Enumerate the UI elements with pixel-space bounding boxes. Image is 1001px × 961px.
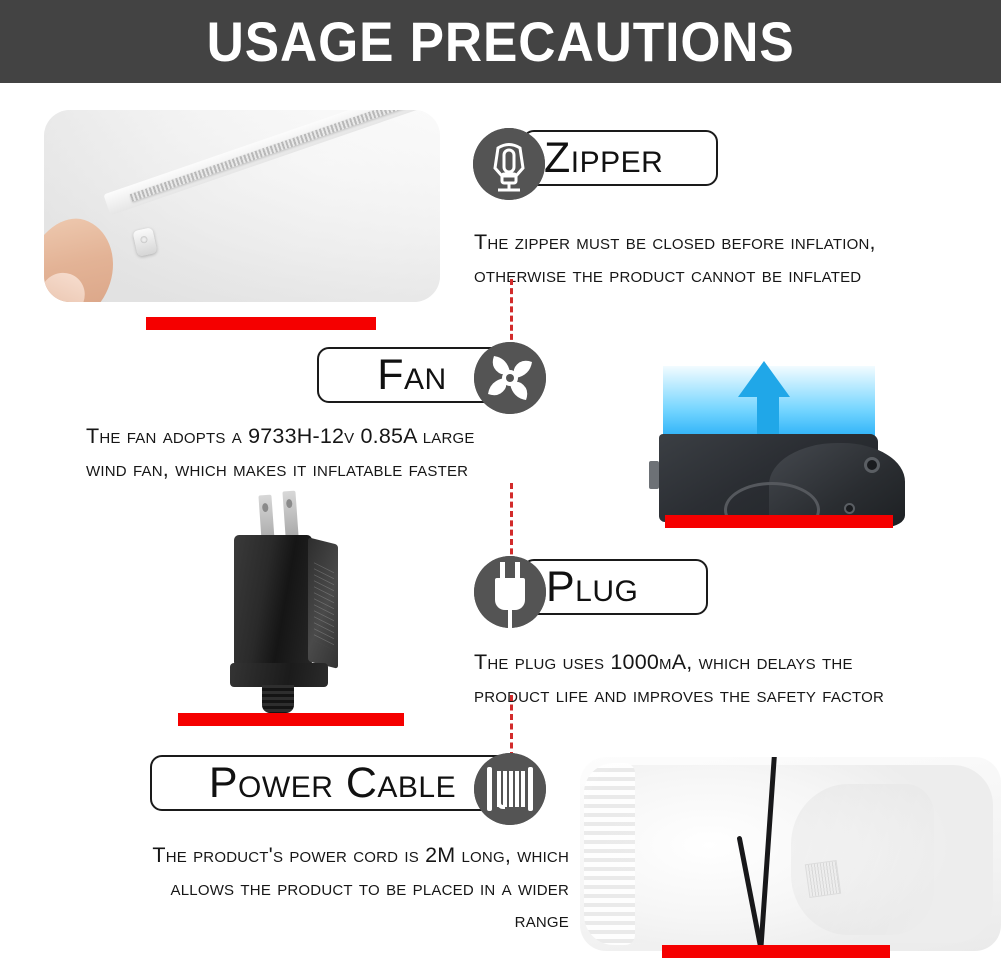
cable-photo-velcro-patch [805, 860, 841, 898]
power-cable-label-text: Power Cable [209, 762, 456, 805]
plug-icon [474, 556, 546, 628]
plug-photo [178, 495, 408, 695]
plug-photo-output-barrel [262, 685, 294, 713]
plug-label-pill: Plug [522, 559, 708, 615]
plug-photo-side-face [308, 537, 338, 668]
zipper-photo-thumbnail [44, 263, 94, 302]
zipper-red-underline [146, 317, 376, 330]
plug-description-line-2: product life and improves the safety fac… [474, 679, 1001, 712]
power-cable-description: The product's power cord is 2M long, whi… [24, 839, 569, 937]
plug-description: The plug uses 1000mA, which delays the p… [474, 646, 1001, 711]
power-cable-description-line-2: allows the product to be placed in a wid… [24, 872, 569, 905]
plug-photo-spec-label [314, 562, 334, 650]
plug-label-text: Plug [546, 566, 638, 609]
plug-red-underline [178, 713, 404, 726]
infographic-canvas: Zipper The zipper must be closed before … [0, 83, 1001, 961]
zipper-description: The zipper must be closed before inflati… [474, 226, 998, 291]
fan-blades-icon [474, 342, 546, 414]
cable-photo-fold-shadow [791, 784, 934, 935]
fan-photo [601, 352, 943, 527]
zipper-label-pill: Zipper [522, 130, 718, 186]
plug-photo-prong-right [282, 491, 298, 538]
fan-label-text: Fan [377, 354, 446, 397]
power-cable-description-line-1: The product's power cord is 2M long, whi… [24, 839, 569, 872]
cable-reel-icon [474, 753, 546, 825]
power-cable-red-underline [662, 945, 890, 958]
zipper-description-line-2: otherwise the product cannot be inflated [474, 259, 998, 292]
fan-description-line-1: The fan adopts a 9733H-12v 0.85A large [86, 420, 586, 453]
zipper-label-text: Zipper [544, 137, 663, 180]
plug-photo-base [230, 663, 328, 687]
connector-zipper-to-fan [510, 279, 513, 349]
cable-photo-elastic-edge [584, 763, 635, 945]
plug-photo-body [234, 535, 312, 667]
zipper-photo [44, 110, 440, 302]
zipper-icon [473, 128, 545, 200]
plug-description-line-1: The plug uses 1000mA, which delays the [474, 646, 1001, 679]
fan-photo-mount-tab [649, 461, 659, 489]
header-bar: USAGE PRECAUTIONS [0, 0, 1001, 83]
fan-photo-screw [844, 503, 855, 514]
fan-description-line-2: wind fan, which makes it inflatable fast… [86, 453, 586, 486]
power-cable-label-pill: Power Cable [150, 755, 515, 811]
fan-red-underline [665, 515, 893, 528]
zipper-description-line-1: The zipper must be closed before inflati… [474, 226, 998, 259]
power-cable-photo [580, 757, 1001, 951]
page-title: USAGE PRECAUTIONS [206, 14, 794, 70]
fan-description: The fan adopts a 9733H-12v 0.85A large w… [86, 420, 586, 485]
power-cable-description-line-3: range [24, 904, 569, 937]
